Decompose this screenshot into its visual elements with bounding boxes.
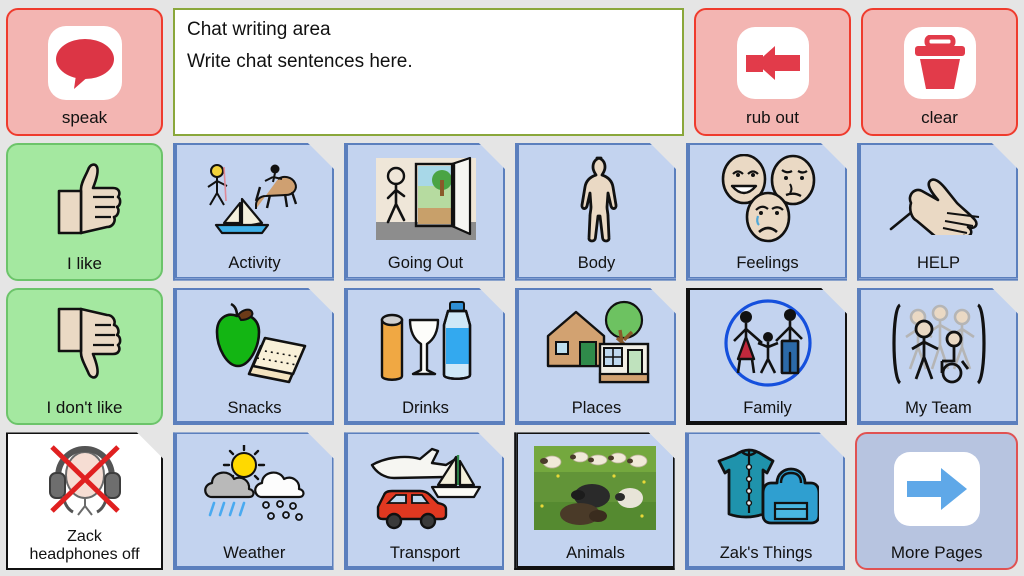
backspace-arrow-icon bbox=[737, 27, 809, 99]
my-team-label: My Team bbox=[859, 399, 1018, 423]
drinks-label: Drinks bbox=[346, 399, 505, 423]
my-team-icon bbox=[884, 299, 994, 387]
more-pages-button[interactable]: More Pages bbox=[855, 432, 1018, 570]
category-body[interactable]: Body bbox=[515, 143, 676, 281]
places-icon bbox=[542, 300, 652, 386]
trash-can-icon bbox=[904, 27, 976, 99]
i-like-art bbox=[8, 145, 161, 254]
body-label: Body bbox=[517, 254, 676, 278]
feelings-label: Feelings bbox=[688, 254, 847, 278]
snacks-art bbox=[175, 288, 334, 399]
activity-art bbox=[175, 143, 334, 254]
grid-row-3: Zack headphones off bbox=[6, 432, 1018, 570]
category-animals[interactable]: Animals bbox=[514, 432, 675, 570]
going-out-art bbox=[346, 143, 505, 254]
toolbar-row: speak Chat writing area Write chat sente… bbox=[6, 8, 1018, 136]
going-out-label: Going Out bbox=[346, 254, 505, 278]
speak-button[interactable]: speak bbox=[6, 8, 163, 136]
chat-writing-area[interactable]: Chat writing area Write chat sentences h… bbox=[173, 8, 684, 136]
right-arrow-icon bbox=[894, 452, 980, 526]
speak-label: speak bbox=[8, 108, 161, 134]
snacks-icon bbox=[203, 302, 307, 384]
speech-bubble-icon bbox=[48, 26, 122, 100]
zack-headphones-art bbox=[6, 432, 163, 528]
family-label: Family bbox=[688, 399, 847, 423]
weather-icon bbox=[198, 445, 310, 531]
communication-board: speak Chat writing area Write chat sente… bbox=[0, 0, 1024, 576]
open-hand-icon bbox=[887, 163, 991, 235]
category-drinks[interactable]: Drinks bbox=[344, 288, 505, 426]
headphones-off-icon bbox=[44, 441, 126, 519]
animals-label: Animals bbox=[516, 544, 675, 568]
going-out-icon bbox=[374, 156, 478, 242]
animals-photo-icon bbox=[534, 446, 656, 530]
category-snacks[interactable]: Snacks bbox=[173, 288, 334, 426]
my-team-art bbox=[859, 288, 1018, 399]
more-pages-label: More Pages bbox=[857, 543, 1016, 568]
thumbs-up-icon bbox=[45, 161, 125, 237]
i-dont-like-button[interactable]: I don't like bbox=[6, 288, 163, 426]
animals-art bbox=[516, 432, 675, 543]
transport-icon bbox=[368, 445, 482, 531]
snacks-label: Snacks bbox=[175, 399, 334, 423]
body-art bbox=[517, 143, 676, 254]
category-weather[interactable]: Weather bbox=[173, 432, 334, 570]
feelings-icon bbox=[716, 154, 820, 244]
i-dont-like-art bbox=[8, 290, 161, 399]
family-icon bbox=[720, 297, 816, 389]
body-icon bbox=[569, 155, 625, 243]
category-places[interactable]: Places bbox=[515, 288, 676, 426]
category-feelings[interactable]: Feelings bbox=[686, 143, 847, 281]
grid-row-1: I like Activity bbox=[6, 143, 1018, 281]
transport-art bbox=[346, 432, 505, 543]
help-label: HELP bbox=[859, 254, 1018, 278]
activity-label: Activity bbox=[175, 254, 334, 278]
speak-art bbox=[8, 10, 161, 108]
clear-button[interactable]: clear bbox=[861, 8, 1018, 136]
category-zaks-things[interactable]: Zak's Things bbox=[685, 432, 846, 570]
i-dont-like-label: I don't like bbox=[8, 398, 161, 423]
grid-row-2: I don't like Snacks bbox=[6, 288, 1018, 426]
help-art bbox=[859, 143, 1018, 254]
places-label: Places bbox=[517, 399, 676, 423]
category-transport[interactable]: Transport bbox=[344, 432, 505, 570]
weather-art bbox=[175, 432, 334, 543]
zack-headphones-label: Zack headphones off bbox=[6, 528, 163, 570]
more-pages-art bbox=[857, 434, 1016, 543]
clear-label: clear bbox=[863, 108, 1016, 134]
drinks-art bbox=[346, 288, 505, 399]
category-activity[interactable]: Activity bbox=[173, 143, 334, 281]
activity-icon bbox=[200, 161, 310, 237]
places-art bbox=[517, 288, 676, 399]
zack-headphones-off-button[interactable]: Zack headphones off bbox=[6, 432, 163, 570]
family-art bbox=[688, 288, 847, 399]
chat-line-1: Chat writing area bbox=[187, 19, 670, 42]
feelings-art bbox=[688, 143, 847, 254]
rub-out-art bbox=[696, 10, 849, 108]
i-like-button[interactable]: I like bbox=[6, 143, 163, 281]
chat-line-2: Write chat sentences here. bbox=[187, 51, 670, 74]
rub-out-label: rub out bbox=[696, 108, 849, 134]
category-help[interactable]: HELP bbox=[857, 143, 1018, 281]
thumbs-down-icon bbox=[45, 305, 125, 383]
zaks-things-label: Zak's Things bbox=[687, 544, 846, 568]
transport-label: Transport bbox=[346, 544, 505, 568]
i-like-label: I like bbox=[8, 254, 161, 279]
zaks-things-icon bbox=[713, 445, 819, 531]
category-my-team[interactable]: My Team bbox=[857, 288, 1018, 426]
zaks-things-art bbox=[687, 432, 846, 543]
category-going-out[interactable]: Going Out bbox=[344, 143, 505, 281]
category-family[interactable]: Family bbox=[686, 288, 847, 426]
weather-label: Weather bbox=[175, 544, 334, 568]
clear-art bbox=[863, 10, 1016, 108]
drinks-icon bbox=[376, 298, 476, 388]
rub-out-button[interactable]: rub out bbox=[694, 8, 851, 136]
